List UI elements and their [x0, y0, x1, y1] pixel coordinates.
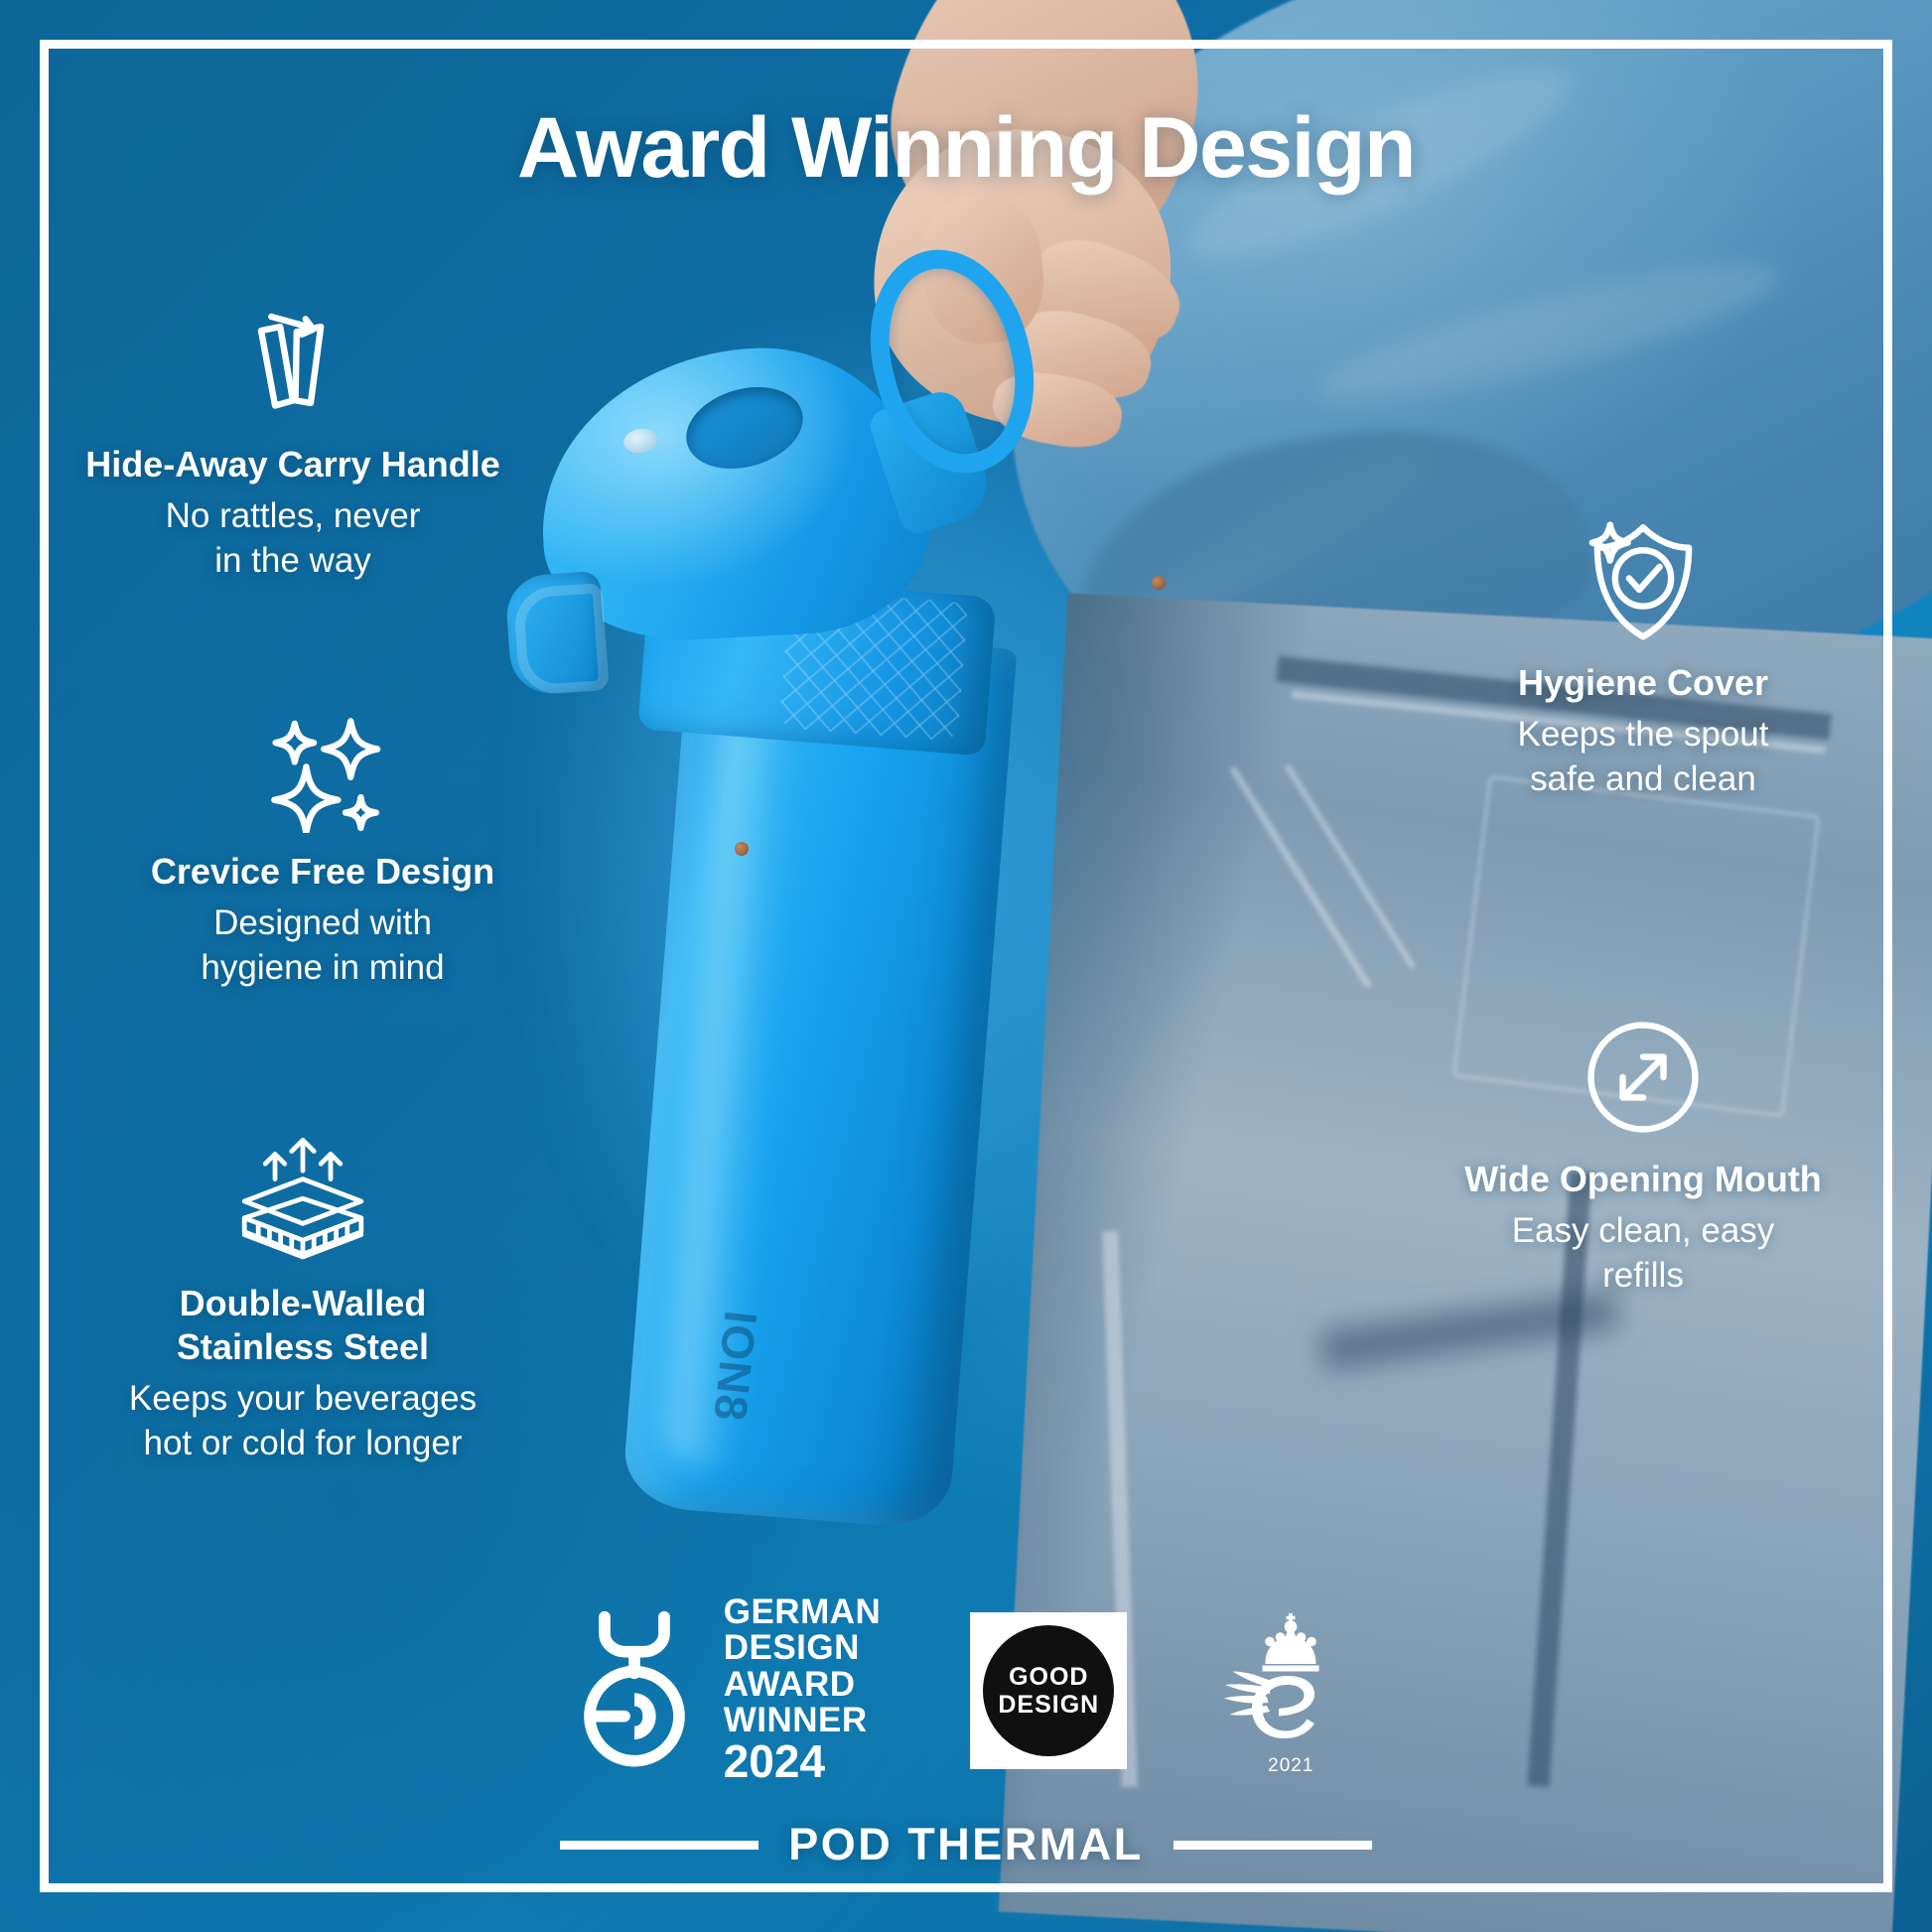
sparkles-icon: [84, 705, 561, 834]
feature-title: Hygiene Cover: [1405, 661, 1881, 705]
feature-description-line: Keeps the spout: [1405, 713, 1881, 758]
footer-rule-right: [1173, 1841, 1372, 1850]
feature-description-line: No rattles, never: [55, 494, 531, 539]
feature-title: Wide Opening Mouth: [1395, 1158, 1891, 1201]
queens-award-crown-icon: [1216, 1604, 1365, 1753]
feature-description-line: in the way: [55, 539, 531, 584]
feature-description: Easy clean, easy refills: [1395, 1209, 1891, 1299]
award-year: 2024: [724, 1738, 882, 1786]
feature-title-line: Stainless Steel: [55, 1325, 551, 1369]
feature-double-walled-stainless-steel: Double-Walled Stainless Steel Keeps your…: [55, 1137, 551, 1465]
feature-description-line: hygiene in mind: [84, 946, 561, 991]
feature-description-line: Designed with: [84, 901, 561, 946]
feature-title: Double-Walled Stainless Steel: [55, 1282, 551, 1369]
layers-insulation-icon: [55, 1137, 551, 1266]
good-design-line: GOOD: [1009, 1663, 1088, 1691]
feature-description: Keeps the spout safe and clean: [1405, 713, 1881, 802]
award-line: DESIGN: [724, 1630, 882, 1666]
award-line: AWARD: [724, 1667, 882, 1703]
good-design-badge: GOOD DESIGN: [970, 1612, 1127, 1769]
feature-crevice-free-design: Crevice Free Design Designed with hygien…: [84, 705, 561, 991]
feature-description-line: safe and clean: [1405, 758, 1881, 802]
good-design-line: DESIGN: [998, 1691, 1099, 1719]
feature-title: Crevice Free Design: [84, 850, 561, 894]
footer: POD THERMAL: [0, 1819, 1932, 1870]
feature-description: No rattles, never in the way: [55, 494, 531, 584]
feature-title: Hide-Away Carry Handle: [55, 443, 531, 486]
german-design-award-badge: GERMAN DESIGN AWARD WINNER 2024: [567, 1594, 882, 1786]
feature-hide-away-carry-handle: Hide-Away Carry Handle No rattles, never…: [55, 298, 531, 584]
feature-description-line: hot or cold for longer: [55, 1422, 551, 1466]
award-line: GERMAN: [724, 1594, 882, 1630]
handle-screw: [1152, 576, 1166, 590]
clip-screw: [735, 842, 749, 856]
feature-title-line: Double-Walled: [55, 1282, 551, 1325]
queens-award-badge: 2021: [1216, 1604, 1365, 1777]
feature-description: Designed with hygiene in mind: [84, 901, 561, 991]
feature-description: Keeps your beverages hot or cold for lon…: [55, 1377, 551, 1466]
german-design-award-text: GERMAN DESIGN AWARD WINNER 2024: [724, 1594, 882, 1786]
award-line: WINNER: [724, 1703, 882, 1738]
footer-product-name: POD THERMAL: [788, 1819, 1144, 1870]
good-design-circle: GOOD DESIGN: [983, 1625, 1114, 1756]
award-badges: GERMAN DESIGN AWARD WINNER 2024 GOOD DES…: [0, 1584, 1932, 1797]
feature-description-line: refills: [1395, 1254, 1891, 1299]
shield-check-sparkle-icon: [1405, 516, 1881, 645]
carry-handle-icon: [55, 298, 531, 427]
expand-arrows-circle-icon: [1395, 1013, 1891, 1142]
feature-description-line: Easy clean, easy: [1395, 1209, 1891, 1254]
feature-hygiene-cover: Hygiene Cover Keeps the spout safe and c…: [1405, 516, 1881, 802]
bottle-side-clip-ring: [512, 583, 609, 696]
feature-wide-opening-mouth: Wide Opening Mouth Easy clean, easy refi…: [1395, 1013, 1891, 1299]
footer-rule-left: [560, 1841, 759, 1850]
infographic-canvas: ION8 Award Winning Design Hide-Away Carr…: [0, 0, 1932, 1932]
page-title: Award Winning Design: [0, 99, 1932, 198]
german-design-award-medal-icon: [567, 1610, 702, 1769]
feature-description-line: Keeps your beverages: [55, 1377, 551, 1422]
queens-award-year: 2021: [1268, 1755, 1313, 1777]
